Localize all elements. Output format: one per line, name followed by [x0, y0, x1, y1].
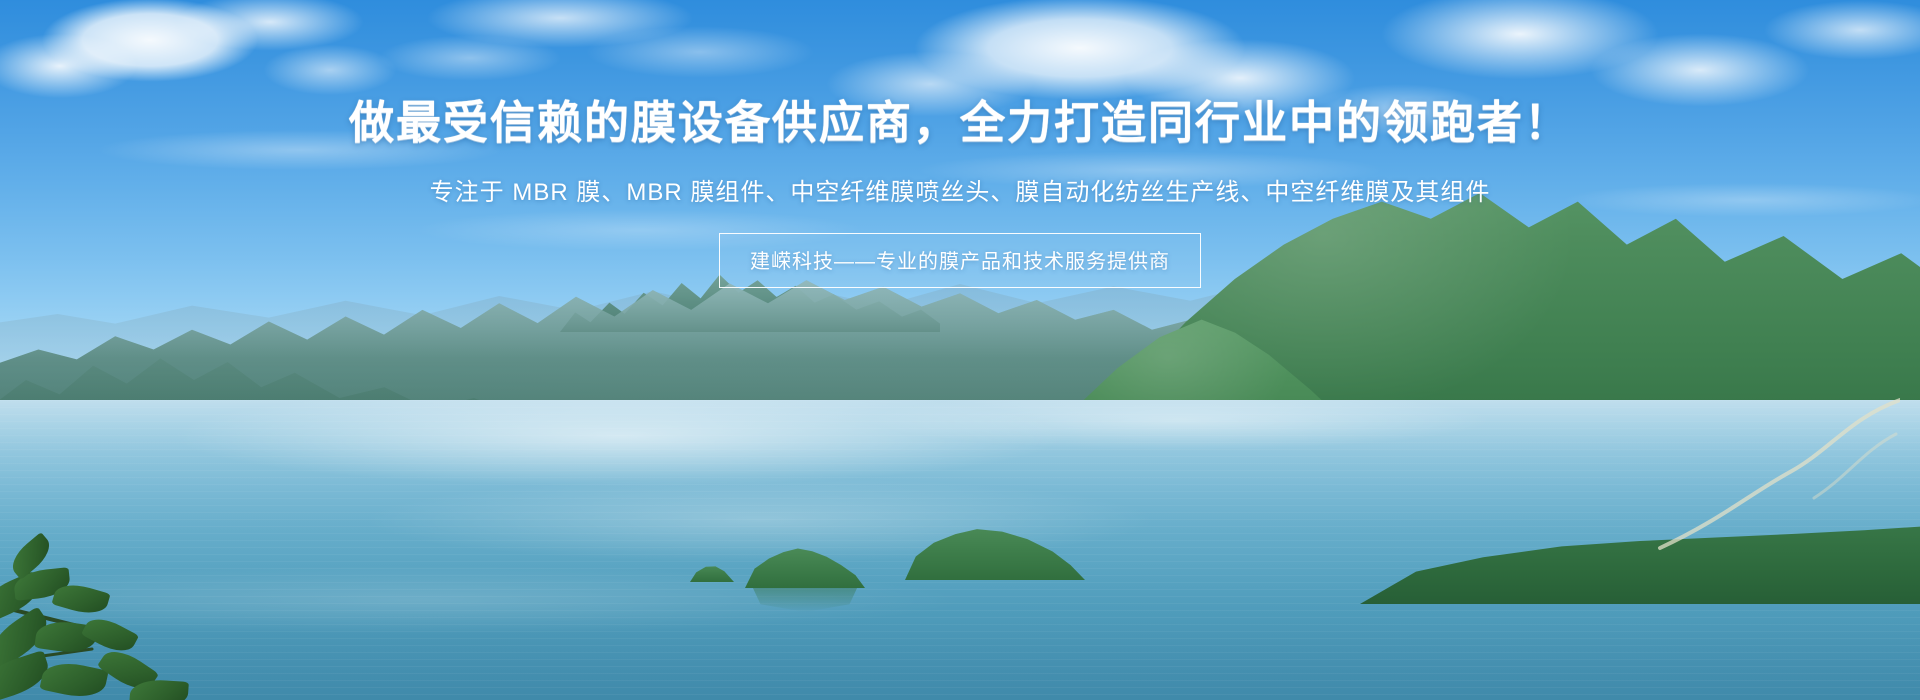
hero-banner: 做最受信赖的膜设备供应商，全力打造同行业中的领跑者！ 专注于 MBR 膜、MBR…: [0, 0, 1920, 700]
foreground-foliage: [0, 530, 210, 700]
